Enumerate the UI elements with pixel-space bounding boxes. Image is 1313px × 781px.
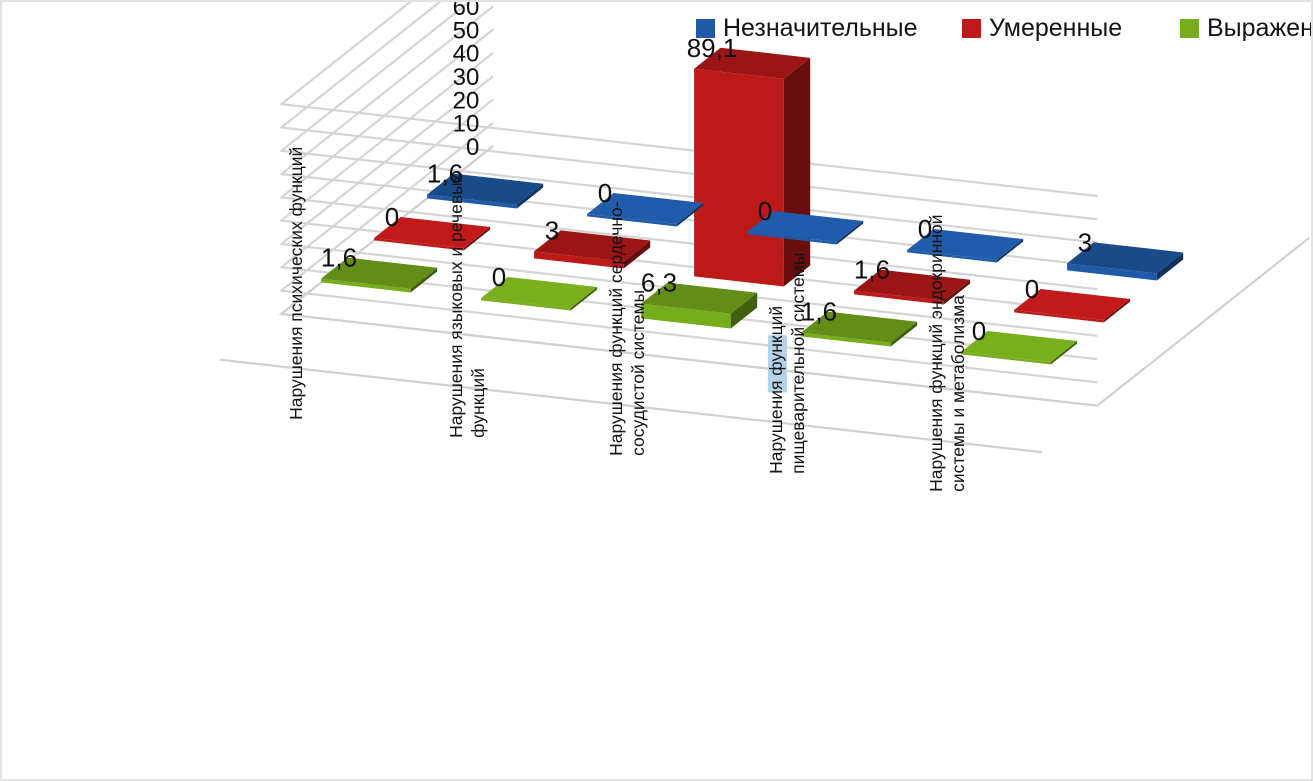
bar-data-label: 0 [385,202,399,232]
legend-swatch [1180,19,1199,38]
category-label: Нарушения психических функций [286,147,306,420]
bar [694,48,810,287]
bar-side-face [784,58,811,287]
category-label-line: Нарушения функций эндокринной [926,214,946,491]
legend-label: Незначительные [723,14,918,42]
category-label-line: системы и метаболизма [948,295,968,492]
legend-label: Умеренные [989,14,1122,42]
bar-data-label: 0 [492,262,506,292]
legend-swatch [696,19,715,38]
category-label-line: Нарушения языковых и речевых [446,173,466,438]
bar-data-label: 3 [545,215,559,245]
legend-group[interactable]: НезначительныеУмеренныеВыраженные [696,14,1313,42]
bar-front-face [694,69,784,287]
category-label-line: сосудистой системы [628,290,648,456]
category-label-line: Нарушения психических функций [286,147,306,420]
bar-data-label: 0 [1025,274,1039,304]
bar-data-label: 1,6 [854,255,890,285]
y-axis-tick-label: 0 [466,134,479,161]
category-label: Нарушения языковых и речевыхфункций [446,173,488,438]
category-label-line: Нарушения функций [766,306,786,474]
legend-item[interactable]: Незначительные [696,14,918,42]
legend-label: Выраженные [1207,14,1313,42]
bar-data-label: 0 [758,196,772,226]
category-label-line: Нарушения функций сердечно- [606,201,626,456]
chart-page: 9080706050403020100 1,606,31,600389,11,6… [0,0,1313,781]
bar-data-label: 3 [1078,227,1092,257]
category-label: Нарушения функцийпищеварительной системы [766,253,808,474]
legend-swatch [962,19,981,38]
category-label-line: функций [468,368,488,438]
bar-data-label: 1,6 [321,243,357,273]
legend-item[interactable]: Выраженные [1180,14,1313,42]
y-axis-ticks-group: 9080706050403020100 [453,2,480,161]
category-label-line: пищеварительной системы [788,253,808,474]
bar-chart-3d: 9080706050403020100 1,606,31,600389,11,6… [2,2,1313,781]
legend-item[interactable]: Умеренные [962,14,1122,42]
bar-data-label: 0 [972,316,986,346]
